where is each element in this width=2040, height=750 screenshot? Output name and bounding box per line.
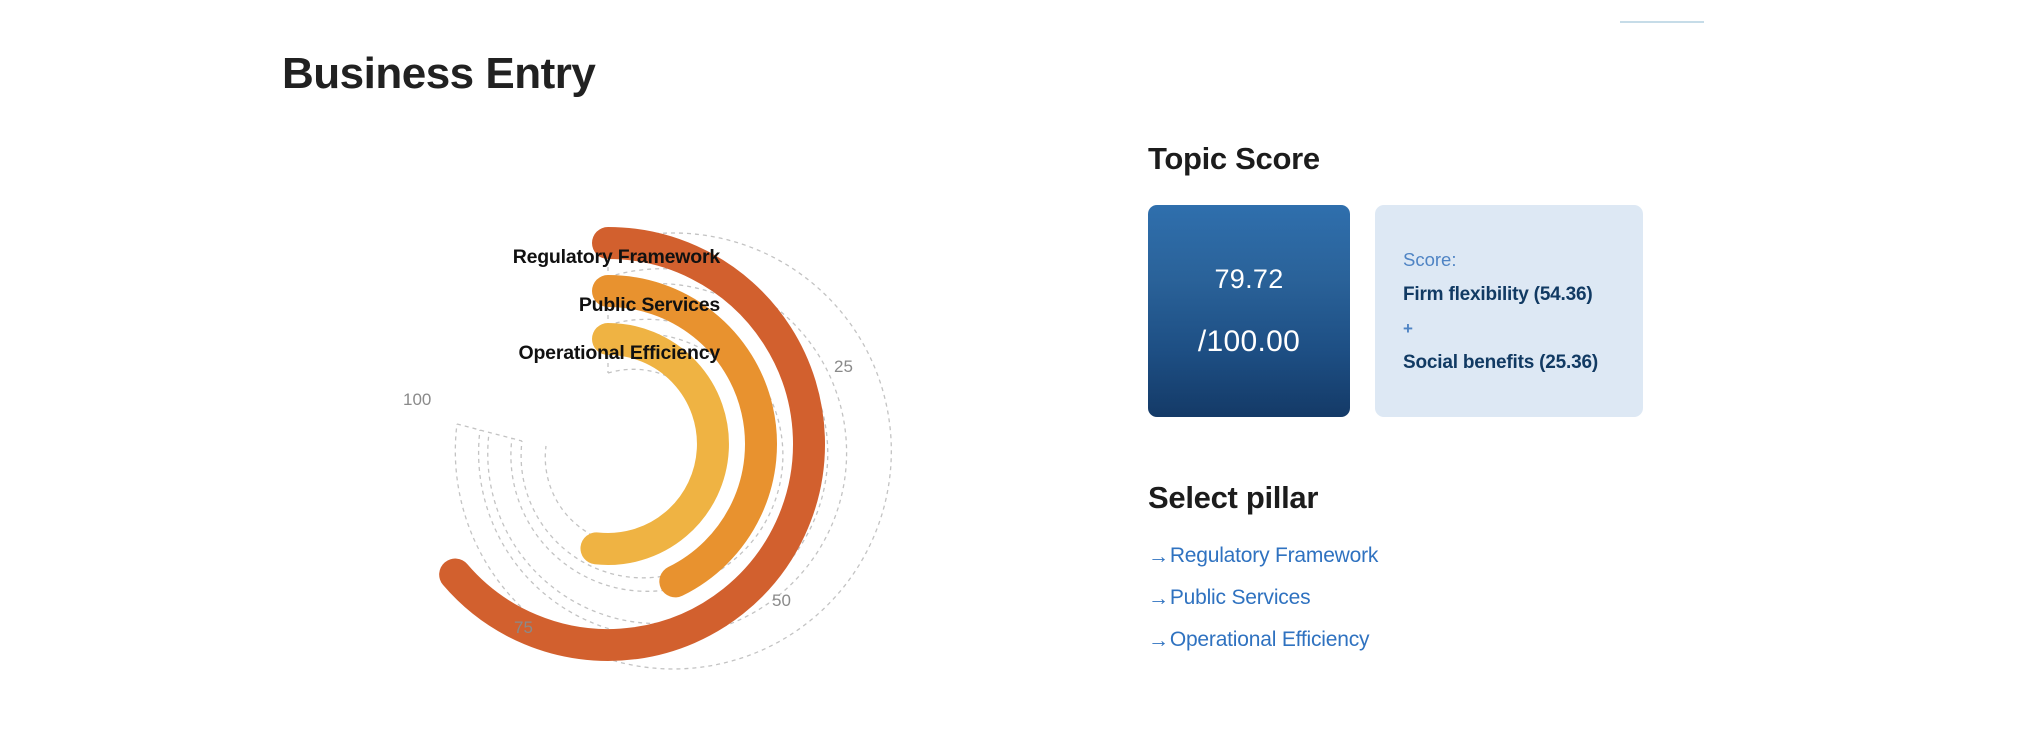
pillar-link-list: → Regulatory Framework → Public Services…	[1148, 544, 1708, 652]
pillar-link-label: Operational Efficiency	[1170, 628, 1370, 652]
score-formula-card: Score: Firm flexibility (54.36) + Social…	[1375, 205, 1643, 417]
pillar-link-operational-efficiency[interactable]: → Operational Efficiency	[1148, 628, 1369, 652]
series-label-regulatory-framework: Regulatory Framework	[513, 246, 720, 269]
arc-operational-efficiency	[596, 339, 712, 549]
axis-tick-25: 25	[834, 357, 853, 377]
pillar-link-regulatory-framework[interactable]: → Regulatory Framework	[1148, 544, 1378, 568]
pillar-link-label: Public Services	[1170, 586, 1311, 610]
series-label-operational-efficiency: Operational Efficiency	[519, 342, 721, 365]
page-title: Business Entry	[282, 49, 595, 100]
select-pillar-heading: Select pillar	[1148, 479, 1708, 516]
score-card: 79.72 /100.00	[1148, 205, 1350, 417]
pillar-link-label: Regulatory Framework	[1170, 544, 1378, 568]
arrow-right-icon: →	[1148, 546, 1169, 567]
score-max: /100.00	[1198, 325, 1300, 359]
score-value: 79.72	[1214, 264, 1283, 295]
axis-tick-100: 100	[403, 390, 431, 410]
right-panel: Topic Score 79.72 /100.00 Score: Firm fl…	[1148, 140, 1708, 652]
formula-label: Score:	[1403, 249, 1615, 271]
pillar-link-public-services[interactable]: → Public Services	[1148, 586, 1310, 610]
series-label-public-services: Public Services	[579, 294, 720, 317]
app-root: Business Entry	[0, 0, 2040, 750]
topic-score-row: 79.72 /100.00 Score: Firm flexibility (5…	[1148, 205, 1708, 417]
axis-tick-75: 75	[514, 618, 533, 638]
arrow-right-icon: →	[1148, 588, 1169, 609]
axis-tick-50: 50	[772, 591, 791, 611]
top-right-divider	[1620, 21, 1704, 23]
radial-bar-chart: Regulatory Framework Public Services Ope…	[330, 150, 1090, 750]
radial-chart-svg	[330, 150, 1090, 750]
arrow-right-icon: →	[1148, 630, 1169, 651]
formula-operator: +	[1403, 319, 1615, 339]
formula-term-1: Firm flexibility (54.36)	[1403, 284, 1615, 306]
formula-term-2: Social benefits (25.36)	[1403, 352, 1615, 374]
topic-score-heading: Topic Score	[1148, 140, 1708, 177]
